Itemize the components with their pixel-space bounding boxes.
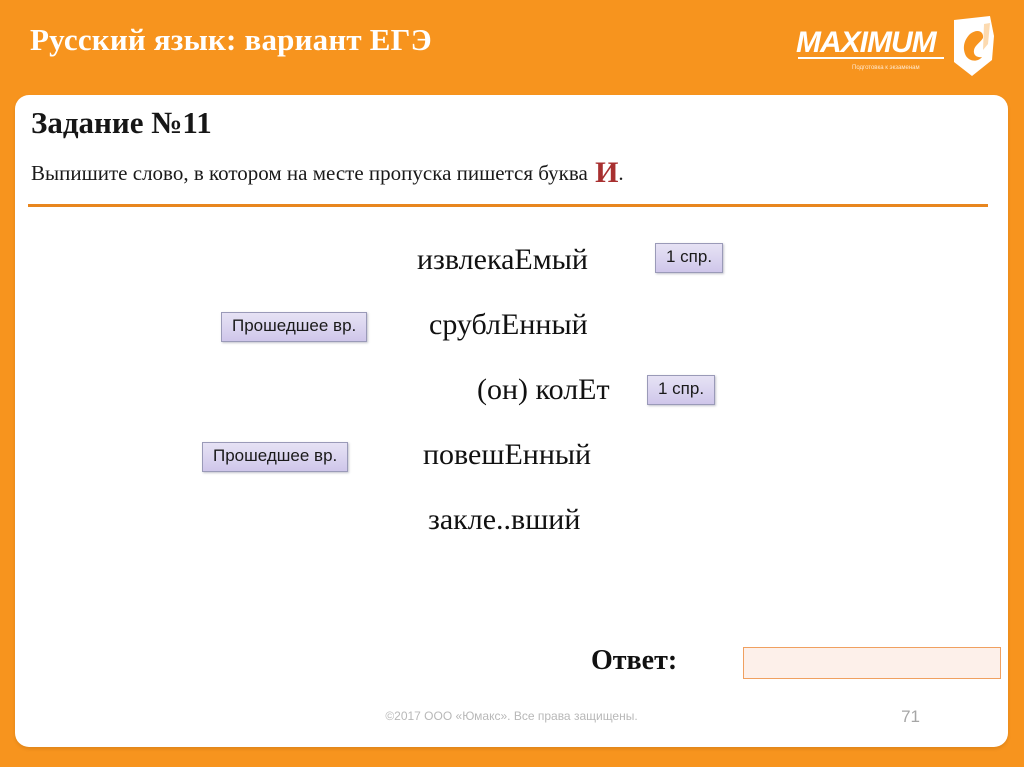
task-prompt: Выпишите слово, в котором на месте пропу… <box>31 158 624 188</box>
slide-root: Русский язык: вариант ЕГЭ MAXIMUM Подгот… <box>0 0 1024 767</box>
svg-text:Подготовка к экзаменам: Подготовка к экзаменам <box>852 65 920 71</box>
word-row: (он) колЕт 1 спр. <box>15 363 1008 428</box>
copyright-notice: ©2017 ООО «Юмакс». Все права защищены. <box>15 709 1008 723</box>
header-divider <box>28 204 988 207</box>
target-letter: И <box>593 156 618 189</box>
maximum-shield-logo: MAXIMUM Подготовка к экзаменам <box>794 14 1002 80</box>
task-title: Задание №11 <box>31 105 212 141</box>
word-text[interactable]: срублЕнный <box>429 308 588 342</box>
task-prompt-period: . <box>618 161 623 185</box>
answer-area: Ответ: <box>591 643 991 683</box>
word-text[interactable]: извлекаЕмый <box>417 243 588 277</box>
annotation-badge: 1 спр. <box>655 243 723 273</box>
page-number: 71 <box>901 707 920 727</box>
answer-input[interactable] <box>743 647 1001 679</box>
annotation-badge: 1 спр. <box>647 375 715 405</box>
task-prompt-text: Выпишите слово, в котором на месте пропу… <box>31 161 593 185</box>
word-text[interactable]: (он) колЕт <box>477 373 610 407</box>
word-text[interactable]: закле..вший <box>428 503 580 537</box>
word-text[interactable]: повешЕнный <box>423 438 591 472</box>
word-row: срублЕнный Прошедшее вр. <box>15 298 1008 363</box>
slide-header: Русский язык: вариант ЕГЭ MAXIMUM Подгот… <box>0 0 1024 93</box>
content-card: Задание №11 Выпишите слово, в котором на… <box>15 95 1008 747</box>
word-list: извлекаЕмый 1 спр. срублЕнный Прошедшее … <box>15 233 1008 558</box>
annotation-badge: Прошедшее вр. <box>221 312 367 342</box>
svg-text:MAXIMUM: MAXIMUM <box>796 26 938 59</box>
word-row: извлекаЕмый 1 спр. <box>15 233 1008 298</box>
page-title: Русский язык: вариант ЕГЭ <box>30 22 432 58</box>
annotation-badge: Прошедшее вр. <box>202 442 348 472</box>
word-row: закле..вший <box>15 493 1008 558</box>
word-row: повешЕнный Прошедшее вр. <box>15 428 1008 493</box>
answer-label: Ответ: <box>591 645 677 677</box>
